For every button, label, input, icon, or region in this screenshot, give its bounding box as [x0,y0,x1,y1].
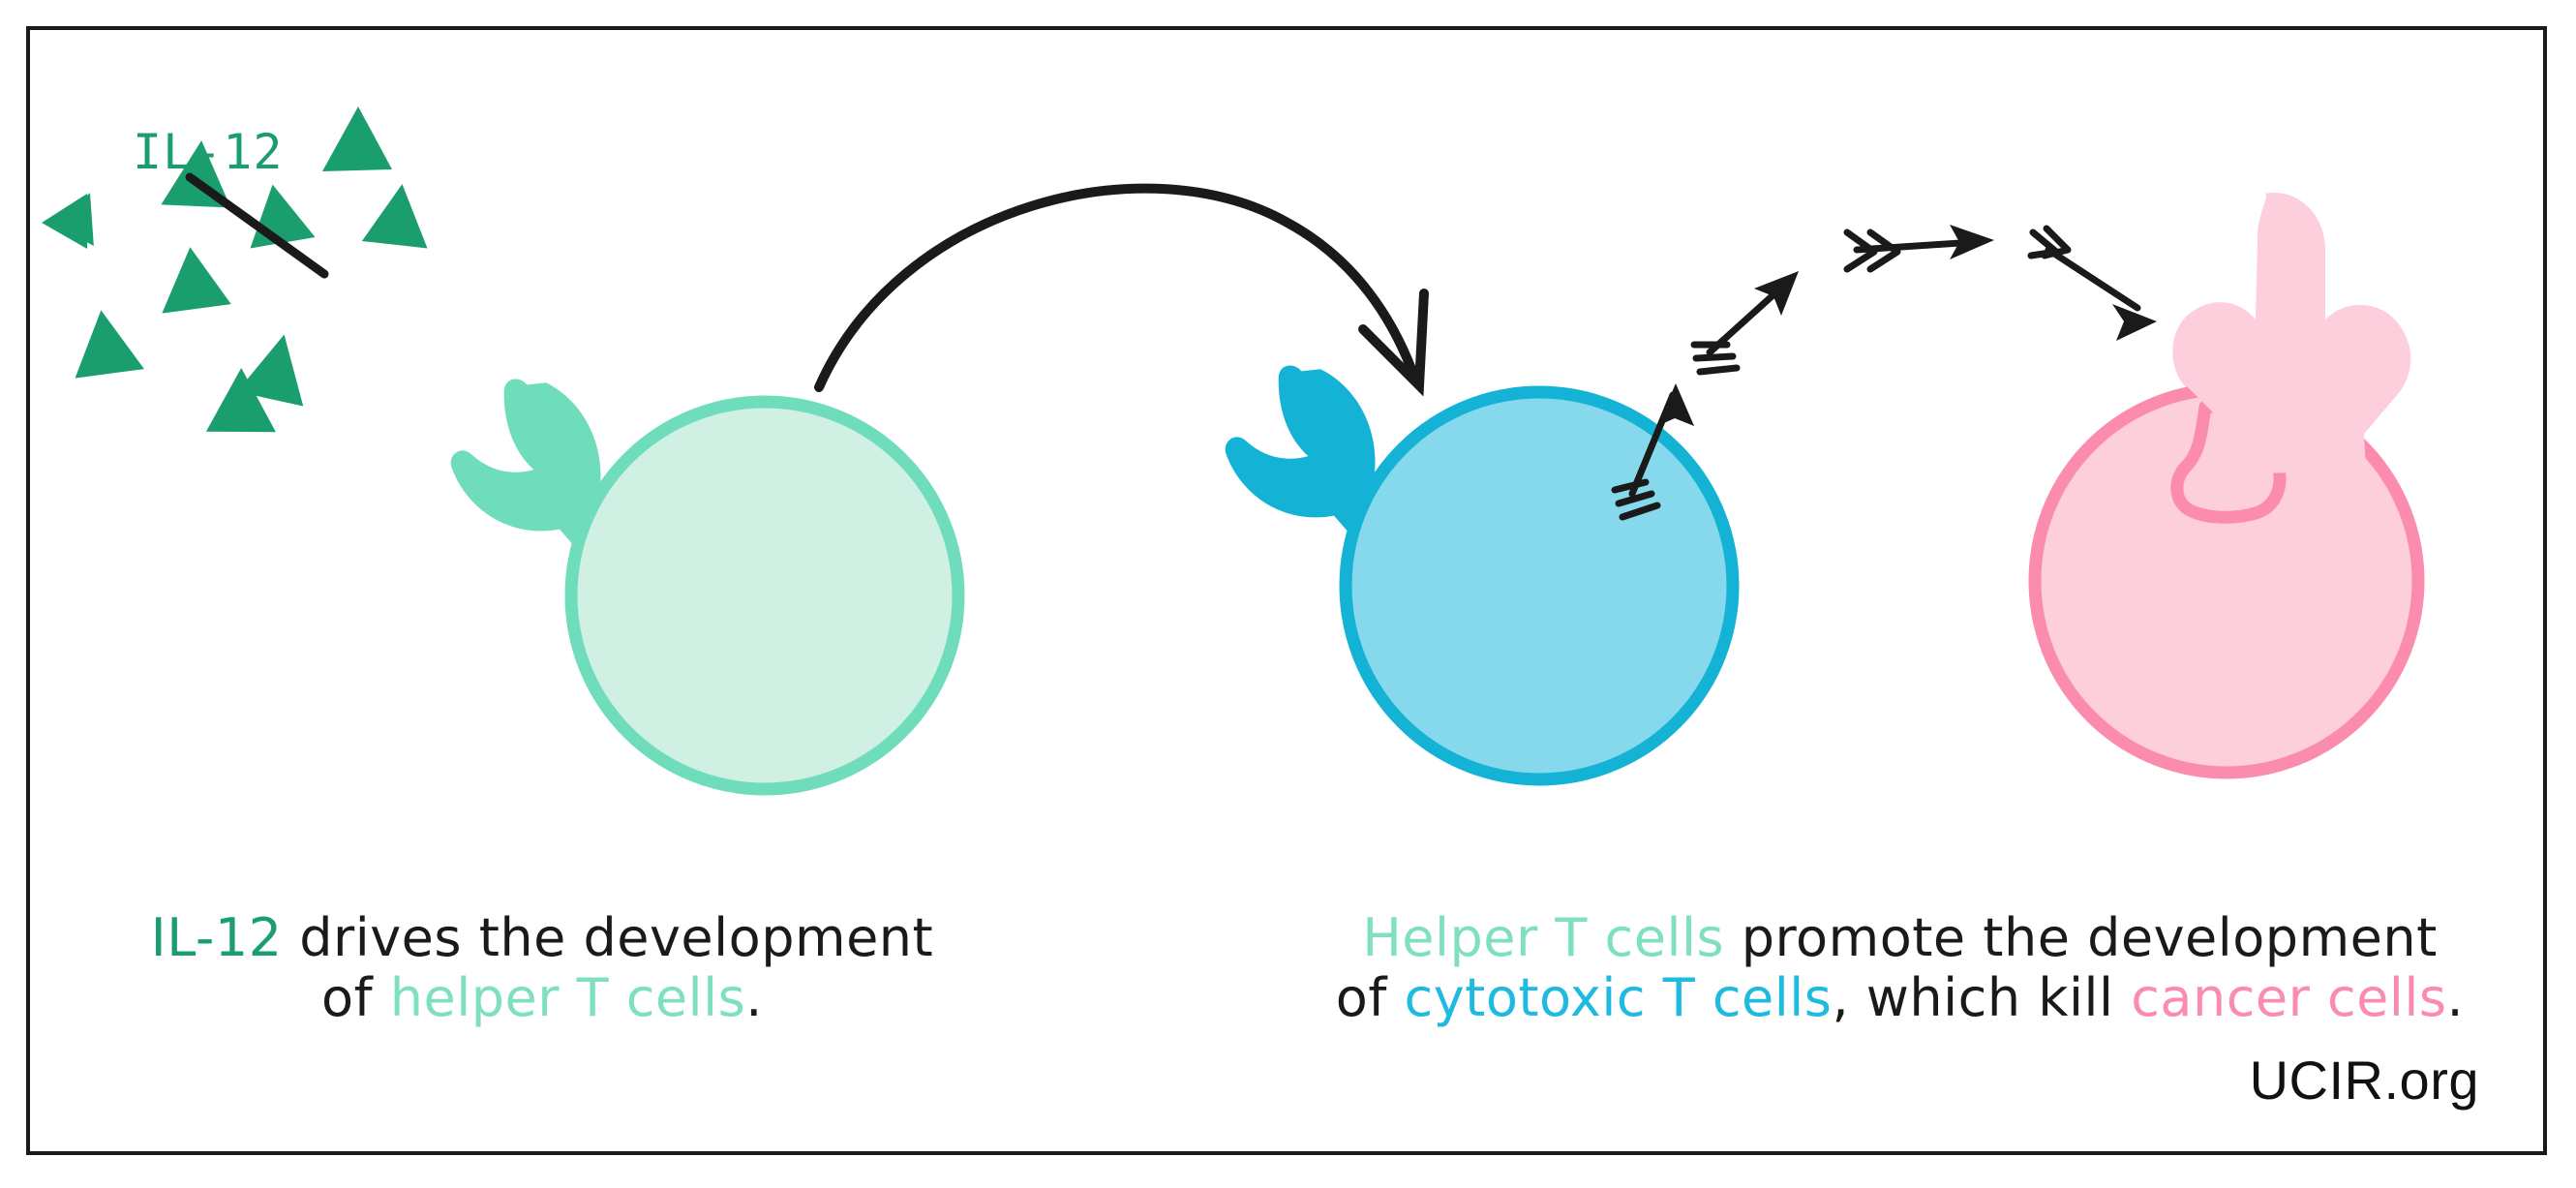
caption-left-line1: IL-12 drives the development [116,908,968,968]
caption-token-text: , which kill [1832,967,2131,1028]
caption-token-text: promote the development [1724,907,2438,968]
caption-right: Helper T cells promote the development o… [1312,908,2488,1027]
caption-right-line1: Helper T cells promote the development [1312,908,2488,968]
il12-triangle [69,306,145,378]
caption-token-text: drives the development [283,907,934,968]
arrow-fletching [2031,228,2068,256]
arrow-shaft [2048,250,2137,308]
caption-left: IL-12 drives the development of helper T… [116,908,968,1027]
caption-token-text: of [1336,967,1405,1028]
differentiation-arrow [819,189,1424,387]
caption-token-helper-t-cells: Helper T cells [1362,907,1724,968]
cytotoxic-t-cell-body [1346,392,1733,779]
helper-t-cell [442,369,958,789]
il12-triangle [362,180,436,251]
arrow-head [1657,383,1694,426]
caption-left-line2: of helper T cells. [116,968,968,1028]
killing-arrow-segment [1847,225,1994,269]
caption-token-cytotoxic-t-cells: cytotoxic T cells [1405,967,1833,1028]
caption-token-cancer-cells: cancer cells [2131,967,2446,1028]
cytotoxic-t-cell [1217,355,1733,779]
caption-token-il12: IL-12 [151,907,283,968]
caption-token-text: of [321,967,390,1028]
il12-triangle [156,243,231,313]
caption-token-helper-t-cells: helper T cells [390,967,746,1028]
caption-right-line2: of cytotoxic T cells, which kill cancer … [1312,968,2488,1028]
differentiation-arrow-shaft [819,189,1415,387]
ucir-watermark: UCIR.org [2250,1049,2479,1112]
caption-token-period: . [2447,967,2465,1028]
il12-triangle [42,194,87,249]
helper-t-cell-body [571,402,958,789]
il12-label: IL-12 [133,124,284,180]
caption-token-period: . [745,967,763,1028]
killing-arrow-segment [2031,228,2157,341]
il12-triangle [322,107,392,171]
figure-root: IL-12 IL-12 drives the development of he… [0,0,2576,1188]
killing-arrow-segment [1694,271,1799,372]
